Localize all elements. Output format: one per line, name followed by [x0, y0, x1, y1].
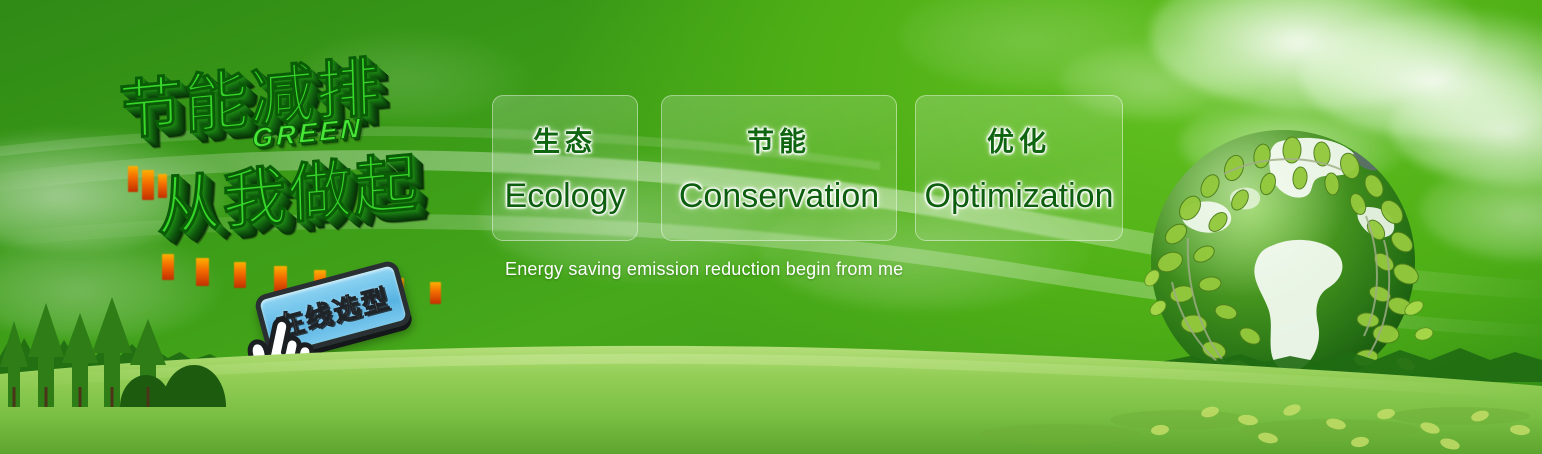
cloud-icon: [1420, 160, 1542, 260]
feature-card-en-label: Optimization: [925, 177, 1114, 216]
online-selection-button[interactable]: 在线选型: [253, 259, 413, 361]
leafy-earth-globe-icon: [1128, 112, 1438, 422]
feature-card-conservation[interactable]: 节能 Conservation: [661, 95, 897, 241]
feature-card-cn-label: 优化: [987, 120, 1051, 159]
headline-accent-word: GREEN: [252, 113, 363, 155]
cloud-icon: [900, 0, 1180, 90]
feature-card-en-label: Conservation: [679, 177, 879, 216]
feature-card-cn-label: 节能: [747, 120, 811, 159]
feature-card-ecology[interactable]: 生态 Ecology: [492, 95, 638, 241]
conifer-tree-icon: [0, 295, 230, 410]
cta-label: 在线选型: [253, 259, 413, 361]
banner-subtitle: Energy saving emission reduction begin f…: [505, 259, 903, 280]
feature-card-en-label: Ecology: [505, 177, 626, 216]
headline-artwork: 节能减排 GREEN 从我做起: [100, 38, 480, 268]
eco-promo-banner: 节能减排 GREEN 从我做起 在线选型 生态 Ecology 节能 Conse…: [0, 0, 1542, 454]
feature-card-cn-label: 生态: [533, 120, 597, 159]
cloud-icon: [1150, 0, 1480, 110]
cloud-icon: [0, 130, 230, 250]
feature-card-optimization[interactable]: 优化 Optimization: [915, 95, 1123, 241]
headline-line-2: 从我做起: [155, 131, 420, 248]
headline-line-1: 节能减排: [117, 35, 382, 152]
